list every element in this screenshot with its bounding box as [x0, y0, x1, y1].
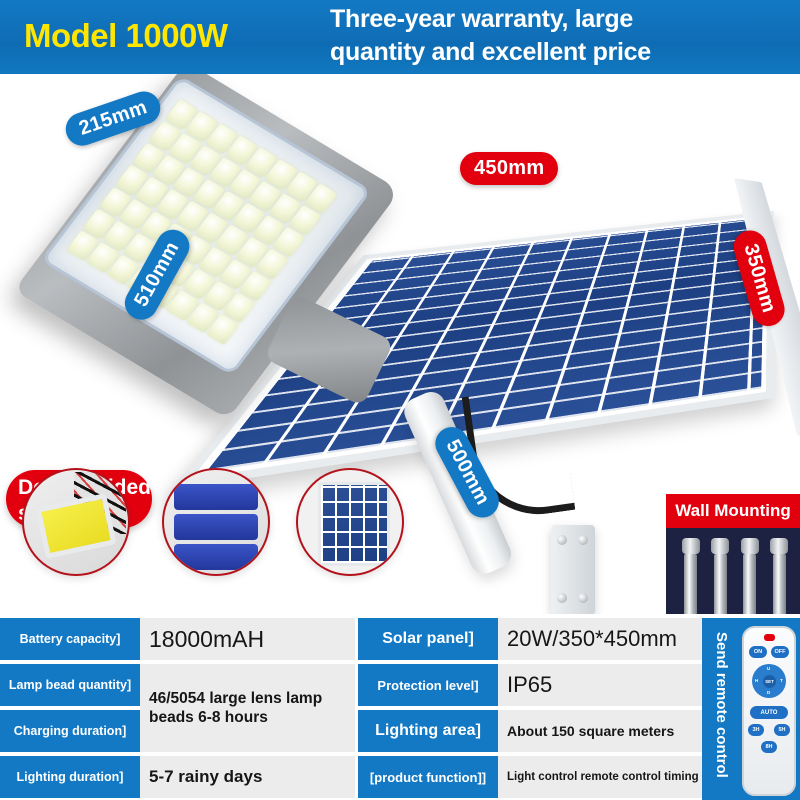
expansion-screw — [770, 538, 788, 614]
spec-row: Solar panel]20W/350*450mm — [358, 618, 713, 660]
spec-label: [product function]] — [358, 756, 498, 798]
spec-label: Battery capacity] — [0, 618, 140, 660]
spec-label: Solar panel] — [358, 618, 498, 660]
expansion-screw-group — [676, 538, 794, 614]
spec-column-left: Battery capacity]18000mAHLamp bead quant… — [0, 614, 355, 800]
product-ad-page: Model 1000W Three-year warranty, large q… — [0, 0, 800, 800]
expansion-screw — [682, 538, 700, 614]
header-slogan: Three-year warranty, large quantity and … — [330, 3, 730, 69]
screw-shaft — [743, 554, 756, 614]
remote-3h-button[interactable]: 3H — [748, 724, 764, 736]
battery-cell — [174, 514, 258, 540]
screw-head — [770, 538, 788, 554]
remote-down-label: D — [767, 690, 770, 695]
wall-mounting-box: Wall Mounting Send Expansion screw — [666, 494, 800, 614]
wall-plate — [551, 525, 595, 614]
spec-value — [140, 710, 355, 752]
spec-label: Lamp bead quantity] — [0, 664, 140, 706]
cob-led-module — [35, 493, 116, 559]
spec-row: Lamp bead quantity]46/5054 large lens la… — [0, 664, 355, 706]
spec-label: Protection level] — [358, 664, 498, 706]
remote-auto-button[interactable]: AUTO — [750, 706, 788, 719]
remote-8h-button[interactable]: 8H — [761, 741, 777, 753]
remote-control-panel: Send remote control ON OFF U D H T SET A… — [702, 618, 800, 800]
bolt-icon — [578, 535, 588, 545]
dimension-badge-450mm: 450mm — [460, 152, 558, 185]
screw-head — [711, 538, 729, 554]
remote-panel-title: Send remote control — [704, 632, 730, 792]
remote-left-label: H — [755, 678, 758, 683]
spec-table: Battery capacity]18000mAHLamp bead quant… — [0, 614, 800, 800]
spec-value: 20W/350*450mm — [498, 618, 713, 660]
battery-cell — [174, 484, 258, 510]
spec-value: 5-7 rainy days — [140, 756, 355, 798]
header-banner: Model 1000W Three-year warranty, large q… — [0, 0, 800, 74]
remote-on-button[interactable]: ON — [749, 646, 767, 658]
remote-up-label: U — [767, 666, 770, 671]
spec-row: Lighting duration]5-7 rainy days — [0, 756, 355, 798]
spec-row: Lighting area]About 150 square meters — [358, 710, 713, 752]
detail-circle-lamp-bead — [22, 468, 130, 576]
spec-value: Light control remote control timing — [498, 756, 713, 798]
detail-circle-battery-pack — [162, 468, 270, 576]
screw-shaft — [773, 554, 786, 614]
spec-row: [product function]]Light control remote … — [358, 756, 713, 798]
spec-row: Protection level]IP65 — [358, 664, 713, 706]
battery-cell — [174, 544, 258, 570]
bolt-icon — [557, 593, 567, 603]
screw-shaft — [714, 554, 727, 614]
remote-off-button[interactable]: OFF — [771, 646, 789, 658]
expansion-screw — [711, 538, 729, 614]
spec-value: 18000mAH — [140, 618, 355, 660]
lamp-head-illustration — [62, 88, 462, 418]
spec-row: Charging duration] — [0, 710, 355, 752]
bolt-icon — [557, 535, 567, 545]
detail-circle-photovoltaic-panel — [296, 468, 404, 576]
spec-label: Lighting duration] — [0, 756, 140, 798]
screw-shaft — [684, 554, 697, 614]
mini-solar-panel — [318, 482, 390, 566]
spec-value: About 150 square meters — [498, 710, 713, 752]
model-title: Model 1000W — [24, 17, 228, 55]
wall-mounting-title: Wall Mounting — [666, 494, 800, 528]
screw-head — [741, 538, 759, 554]
remote-set-button[interactable]: SET — [763, 675, 776, 688]
spec-value: IP65 — [498, 664, 713, 706]
spec-row: Battery capacity]18000mAH — [0, 618, 355, 660]
bolt-icon — [578, 593, 588, 603]
spec-label: Lighting area] — [358, 710, 498, 752]
spec-label: Charging duration] — [0, 710, 140, 752]
remote-right-label: T — [780, 678, 783, 683]
remote-control-device[interactable]: ON OFF U D H T SET AUTO 3H 5H 8H — [742, 626, 796, 796]
expansion-screw — [741, 538, 759, 614]
screw-head — [682, 538, 700, 554]
remote-led-icon — [764, 634, 775, 641]
product-photo: 215mm 510mm 450mm 350mm 500mm Double-sid… — [0, 74, 800, 614]
remote-5h-button[interactable]: 5H — [774, 724, 790, 736]
spec-column-right: Solar panel]20W/350*450mmProtection leve… — [358, 614, 713, 800]
